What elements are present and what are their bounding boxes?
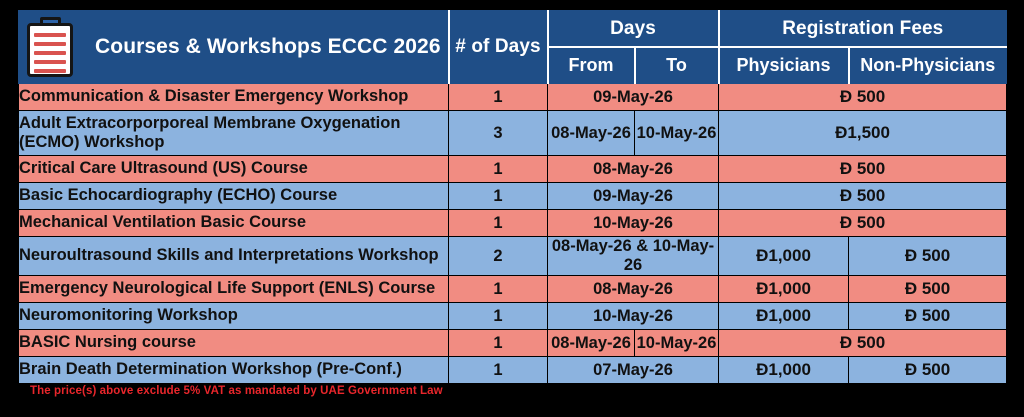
cell-date-range: 08-May-26 (548, 156, 719, 183)
cell-course-name: Adult Extracorporporeal Membrane Oxygena… (19, 111, 449, 156)
cell-course-name: Mechanical Ventilation Basic Course (19, 210, 449, 237)
column-header-fees-non-physicians: Non-Physicians (849, 47, 1007, 84)
cell-fee-all: Đ 500 (719, 210, 1007, 237)
column-header-num-days: # of Days (449, 11, 548, 84)
column-header-fees-group: Registration Fees (719, 11, 1007, 48)
column-header-days-to: To (635, 47, 719, 84)
cell-num-days: 1 (449, 357, 548, 384)
cell-fee-all: Đ 500 (719, 156, 1007, 183)
cell-num-days: 1 (449, 84, 548, 111)
table-row: Basic Echocardiography (ECHO) Course109-… (19, 183, 1007, 210)
courses-schedule-table: Courses & Workshops ECCC 2026 # of Days … (18, 10, 1007, 384)
clipboard-icon (27, 17, 73, 77)
cell-num-days: 2 (449, 237, 548, 276)
cell-date-to: 10-May-26 (635, 111, 719, 156)
cell-fee-all: Đ 500 (719, 330, 1007, 357)
cell-num-days: 1 (449, 276, 548, 303)
table-row: Mechanical Ventilation Basic Course110-M… (19, 210, 1007, 237)
schedule-poster: Courses & Workshops ECCC 2026 # of Days … (0, 0, 1024, 417)
cell-course-name: Basic Echocardiography (ECHO) Course (19, 183, 449, 210)
table-row: Emergency Neurological Life Support (ENL… (19, 276, 1007, 303)
cell-fee-non-physicians: Đ 500 (849, 357, 1007, 384)
cell-num-days: 1 (449, 303, 548, 330)
cell-fee-physicians: Đ1,000 (719, 357, 849, 384)
cell-date-from: 08-May-26 (548, 330, 635, 357)
cell-course-name: Communication & Disaster Emergency Works… (19, 84, 449, 111)
cell-fee-all: Đ 500 (719, 84, 1007, 111)
table-row: Neuroultrasound Skills and Interpretatio… (19, 237, 1007, 276)
cell-date-range: 09-May-26 (548, 84, 719, 111)
cell-num-days: 3 (449, 111, 548, 156)
cell-date-to: 10-May-26 (635, 330, 719, 357)
table-row: BASIC Nursing course108-May-2610-May-26Đ… (19, 330, 1007, 357)
cell-date-range: 07-May-26 (548, 357, 719, 384)
cell-num-days: 1 (449, 210, 548, 237)
cell-fee-non-physicians: Đ 500 (849, 276, 1007, 303)
schedule-table-container: Courses & Workshops ECCC 2026 # of Days … (18, 10, 1006, 382)
cell-course-name: Neuroultrasound Skills and Interpretatio… (19, 237, 449, 276)
cell-date-range: 08-May-26 (548, 276, 719, 303)
table-header: Courses & Workshops ECCC 2026 # of Days … (19, 11, 1007, 84)
cell-fee-physicians: Đ1,000 (719, 303, 849, 330)
cell-fee-non-physicians: Đ 500 (849, 237, 1007, 276)
cell-date-range: 10-May-26 (548, 303, 719, 330)
cell-course-name: Neuromonitoring Workshop (19, 303, 449, 330)
cell-course-name: Brain Death Determination Workshop (Pre-… (19, 357, 449, 384)
column-header-fees-physicians: Physicians (719, 47, 849, 84)
cell-num-days: 1 (449, 330, 548, 357)
cell-num-days: 1 (449, 156, 548, 183)
column-header-days-group: Days (548, 11, 719, 48)
column-header-days-from: From (548, 47, 635, 84)
table-row: Brain Death Determination Workshop (Pre-… (19, 357, 1007, 384)
cell-course-name: Emergency Neurological Life Support (ENL… (19, 276, 449, 303)
table-body: Communication & Disaster Emergency Works… (19, 84, 1007, 384)
cell-date-range: 10-May-26 (548, 210, 719, 237)
table-row: Adult Extracorporporeal Membrane Oxygena… (19, 111, 1007, 156)
cell-fee-physicians: Đ1,000 (719, 237, 849, 276)
vat-footnote: The price(s) above exclude 5% VAT as man… (30, 385, 443, 397)
cell-date-from: 08-May-26 (548, 111, 635, 156)
cell-date-range: 09-May-26 (548, 183, 719, 210)
table-row: Neuromonitoring Workshop110-May-26Đ1,000… (19, 303, 1007, 330)
cell-course-name: BASIC Nursing course (19, 330, 449, 357)
cell-fee-all: Đ1,500 (719, 111, 1007, 156)
cell-fee-physicians: Đ1,000 (719, 276, 849, 303)
page-title: Courses & Workshops ECCC 2026 (95, 35, 441, 59)
table-row: Communication & Disaster Emergency Works… (19, 84, 1007, 111)
cell-fee-non-physicians: Đ 500 (849, 303, 1007, 330)
cell-date-range: 08-May-26 & 10-May-26 (548, 237, 719, 276)
cell-num-days: 1 (449, 183, 548, 210)
cell-fee-all: Đ 500 (719, 183, 1007, 210)
table-row: Critical Care Ultrasound (US) Course108-… (19, 156, 1007, 183)
table-title-cell: Courses & Workshops ECCC 2026 (19, 11, 449, 84)
cell-course-name: Critical Care Ultrasound (US) Course (19, 156, 449, 183)
